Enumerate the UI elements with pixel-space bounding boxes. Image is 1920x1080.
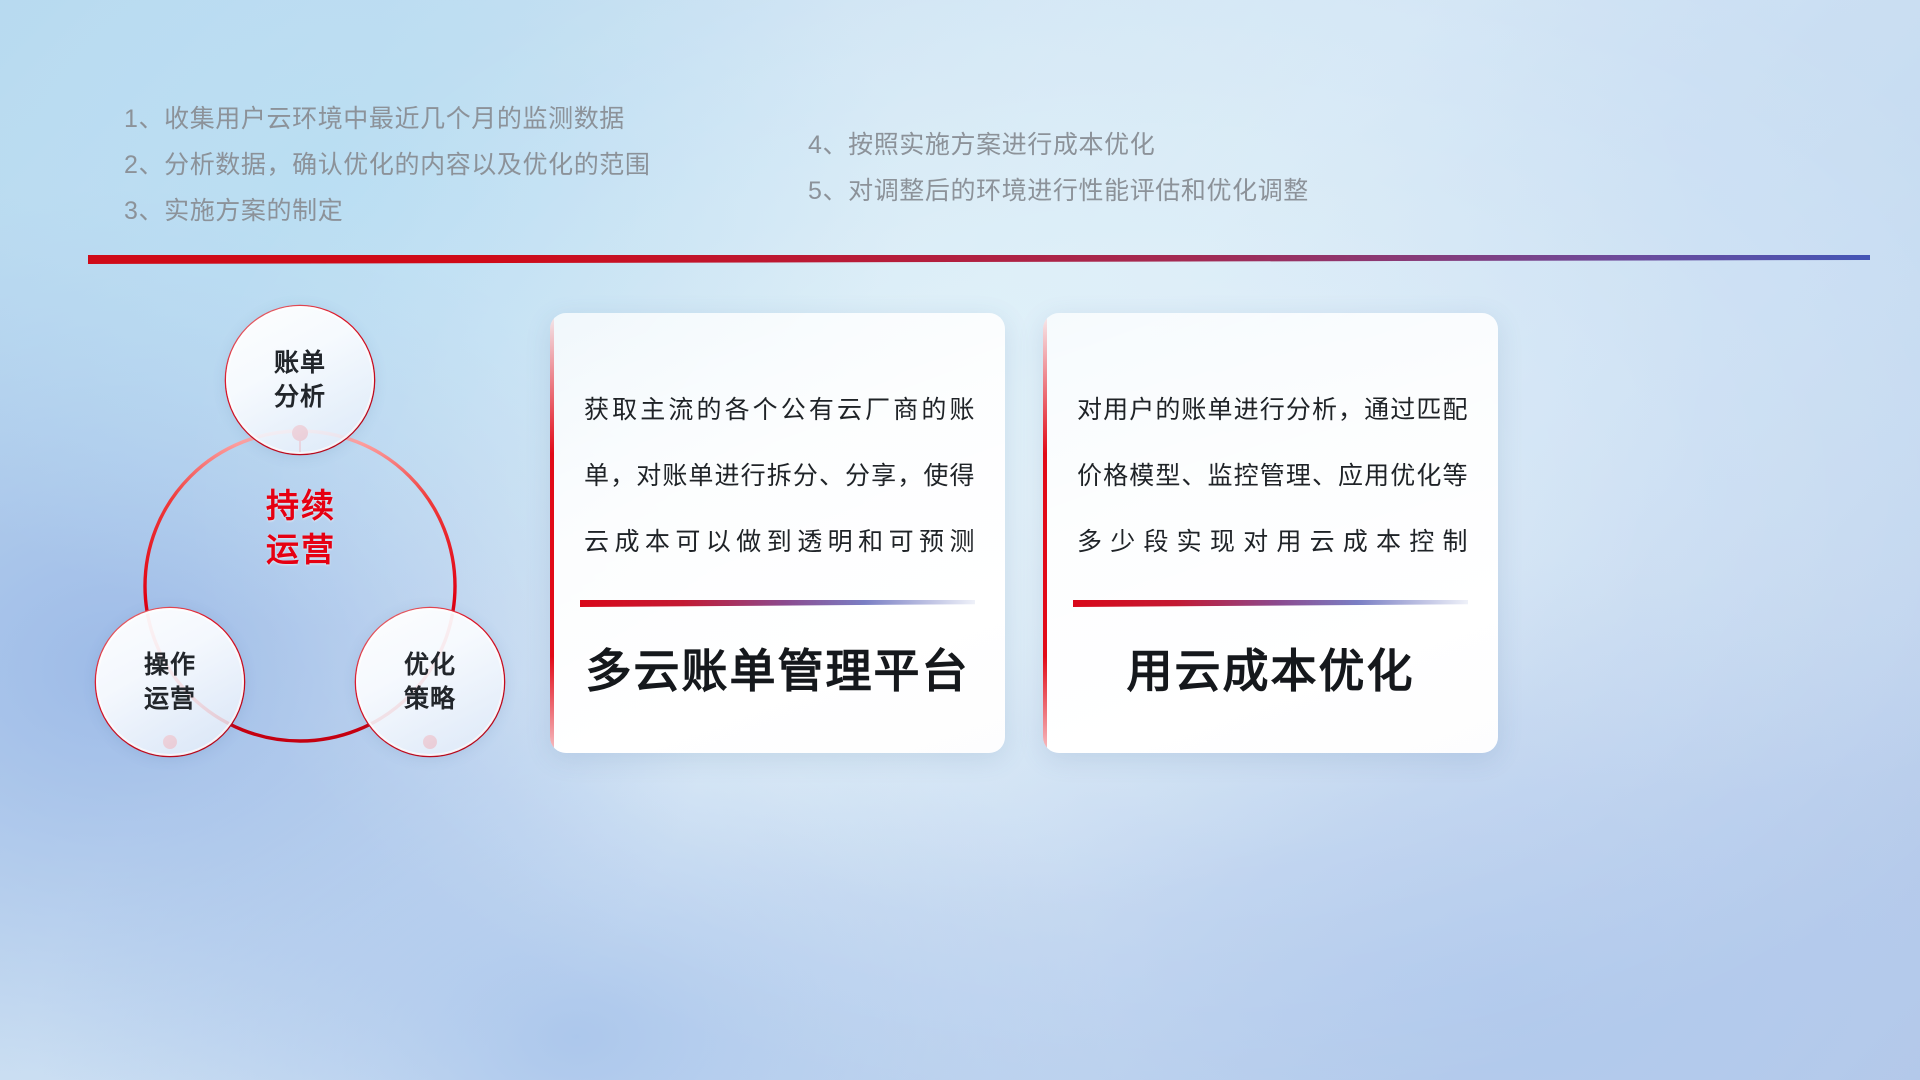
- divider-bar: [88, 255, 1870, 264]
- venn-bubble-top-line1: 账单: [274, 346, 326, 380]
- section-divider: [88, 255, 1870, 264]
- feature-card-1-body: 获取主流的各个公有云厂商的账单，对账单进行拆分、分享，使得云成本可以做到透明和可…: [584, 377, 975, 575]
- step-item-5: 5、对调整后的环境进行性能评估和优化调整: [808, 168, 1309, 214]
- feature-card-2-title: 用云成本优化: [1043, 635, 1498, 701]
- steps-list-left: 1、收集用户云环境中最近几个月的监测数据 2、分析数据，确认优化的内容以及优化的…: [124, 96, 651, 234]
- step-item-3: 3、实施方案的制定: [124, 188, 651, 234]
- venn-bubble-left-line1: 操作: [144, 648, 196, 682]
- feature-card-cost-optimization[interactable]: 对用户的账单进行分析，通过匹配价格模型、监控管理、应用优化等多少段实现对用云成本…: [1043, 313, 1498, 753]
- venn-bubble-optimization-strategy[interactable]: 优化 策略: [356, 608, 504, 756]
- venn-bubble-left-line2: 运营: [144, 682, 196, 716]
- venn-diagram: 账单 分析 操作 运营 优化 策略 持续 运营: [78, 296, 538, 776]
- venn-bubble-right-line2: 策略: [404, 682, 456, 716]
- feature-card-1-rule: [580, 600, 975, 607]
- venn-bubble-operations[interactable]: 操作 运营: [96, 608, 244, 756]
- feature-card-billing-platform[interactable]: 获取主流的各个公有云厂商的账单，对账单进行拆分、分享，使得云成本可以做到透明和可…: [550, 313, 1005, 753]
- step-item-4: 4、按照实施方案进行成本优化: [808, 122, 1309, 168]
- venn-bubble-billing-analysis[interactable]: 账单 分析: [226, 306, 374, 454]
- step-item-1: 1、收集用户云环境中最近几个月的监测数据: [124, 96, 651, 142]
- venn-bubble-right-line1: 优化: [404, 648, 456, 682]
- venn-center-line1: 持续: [226, 484, 376, 528]
- venn-center-line2: 运营: [226, 528, 376, 572]
- feature-card-2-body: 对用户的账单进行分析，通过匹配价格模型、监控管理、应用优化等多少段实现对用云成本…: [1077, 377, 1468, 575]
- feature-card-2-rule: [1073, 600, 1468, 607]
- feature-card-1-title: 多云账单管理平台: [550, 635, 1005, 701]
- venn-bubble-top-line2: 分析: [274, 380, 326, 414]
- steps-list-right: 4、按照实施方案进行成本优化 5、对调整后的环境进行性能评估和优化调整: [808, 122, 1309, 214]
- venn-center-label: 持续 运营: [226, 484, 376, 572]
- step-item-2: 2、分析数据，确认优化的内容以及优化的范围: [124, 142, 651, 188]
